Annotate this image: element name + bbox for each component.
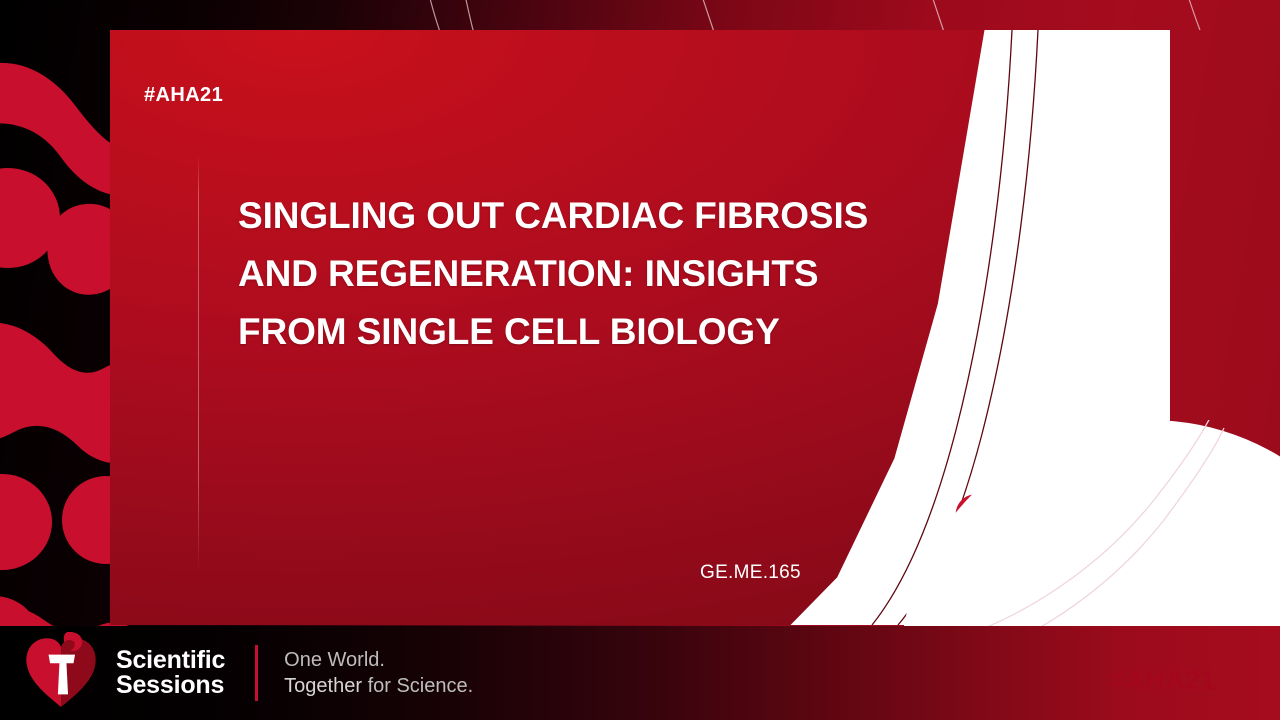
tagline-line-2-lead: Together — [284, 675, 362, 697]
session-code: GE.ME.165 — [700, 562, 801, 584]
slide-hashtag: #AHA21 — [144, 84, 223, 107]
footer-bar: Scientific Sessions One World. Together … — [0, 626, 1280, 720]
slide-title: SINGLING OUT CARDIAC FIBROSIS AND REGENE… — [238, 187, 928, 361]
brand-line-2: Sessions — [116, 673, 225, 698]
tagline-line-2: Together for Science. — [284, 673, 473, 699]
footer-tagline: One World. Together for Science. — [284, 647, 473, 699]
tagline-line-2-rest: for Science. — [368, 675, 474, 697]
tagline-line-1: One World. — [284, 647, 473, 673]
aha-heart-torch-icon — [22, 632, 100, 710]
footer-divider — [255, 645, 258, 701]
brand-line-1: Scientific — [116, 648, 225, 673]
presentation-screen: #AHA21 SINGLING OUT CARDIAC FIBROSIS AND… — [0, 0, 1280, 720]
slide-accent-line — [198, 154, 199, 572]
footer-hashtag: #AHA21 — [1109, 665, 1216, 696]
scientific-sessions-wordmark: Scientific Sessions — [116, 648, 225, 698]
